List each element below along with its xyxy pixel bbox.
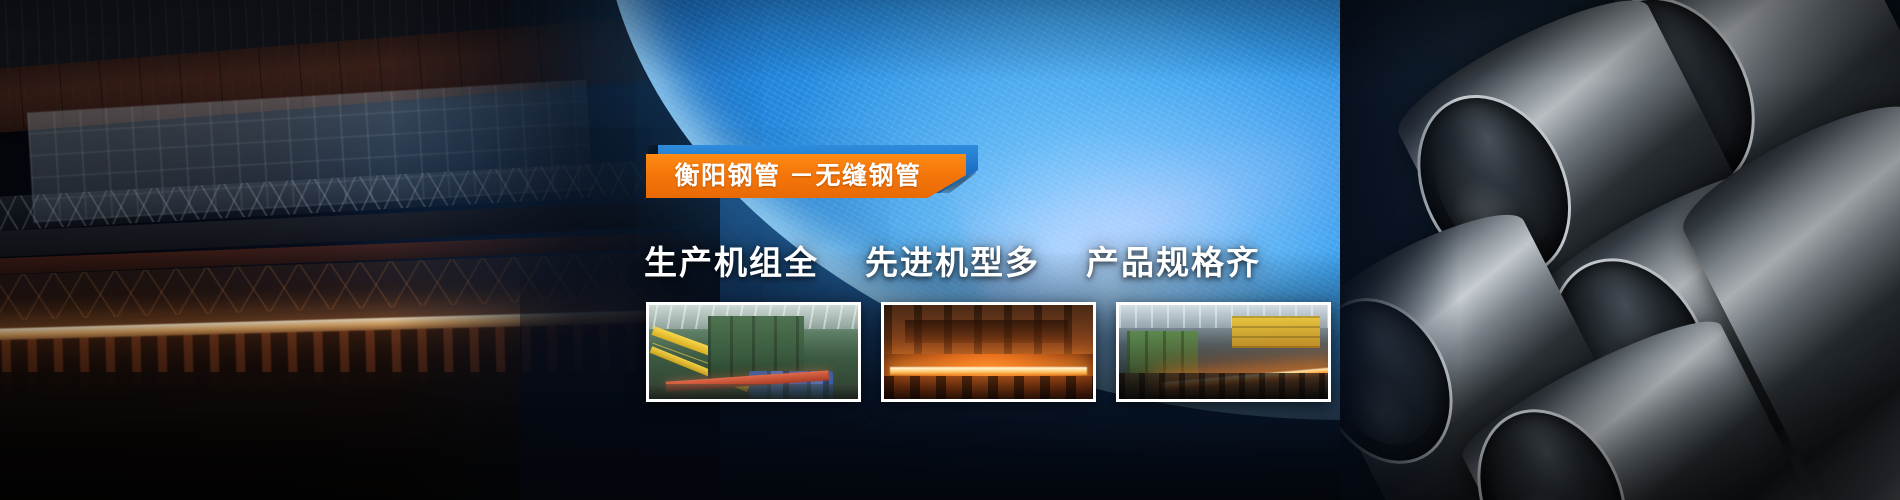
- furnace-hot-bar: [890, 367, 1086, 375]
- furnace-base: [884, 376, 1093, 399]
- thumbnail-hot-billet-furnace[interactable]: [881, 302, 1096, 402]
- headline-item-2: 先进机型多: [865, 236, 1040, 284]
- thumbnail-image: [649, 305, 858, 399]
- thumbnail-image: [1119, 305, 1328, 399]
- banner: 衡阳钢管 －无缝钢管 生产机组全 先进机型多 产品规格齐: [0, 0, 1900, 500]
- thumbnail-workshop-hot-line[interactable]: [1116, 302, 1331, 402]
- furnace-machine: [884, 305, 1093, 354]
- badge-label: 衡阳钢管 －无缝钢管: [675, 156, 922, 192]
- workshop-yellow-rig: [1232, 316, 1320, 348]
- banner-content: 衡阳钢管 －无缝钢管 生产机组全 先进机型多 产品规格齐: [0, 0, 1900, 500]
- headline-item-3: 产品规格齐: [1086, 236, 1261, 284]
- mill-floor: [649, 384, 858, 399]
- thumbnail-rolling-mill-line[interactable]: [646, 302, 861, 402]
- badge-orange-layer: 衡阳钢管 －无缝钢管: [646, 154, 966, 198]
- headline: 生产机组全 先进机型多 产品规格齐: [644, 236, 1261, 284]
- workshop-floor: [1119, 373, 1328, 399]
- thumbnail-image: [884, 305, 1093, 399]
- thumbnail-row: [646, 302, 1331, 402]
- headline-item-1: 生产机组全: [644, 236, 819, 284]
- brand-badge: 衡阳钢管 －无缝钢管: [646, 135, 978, 195]
